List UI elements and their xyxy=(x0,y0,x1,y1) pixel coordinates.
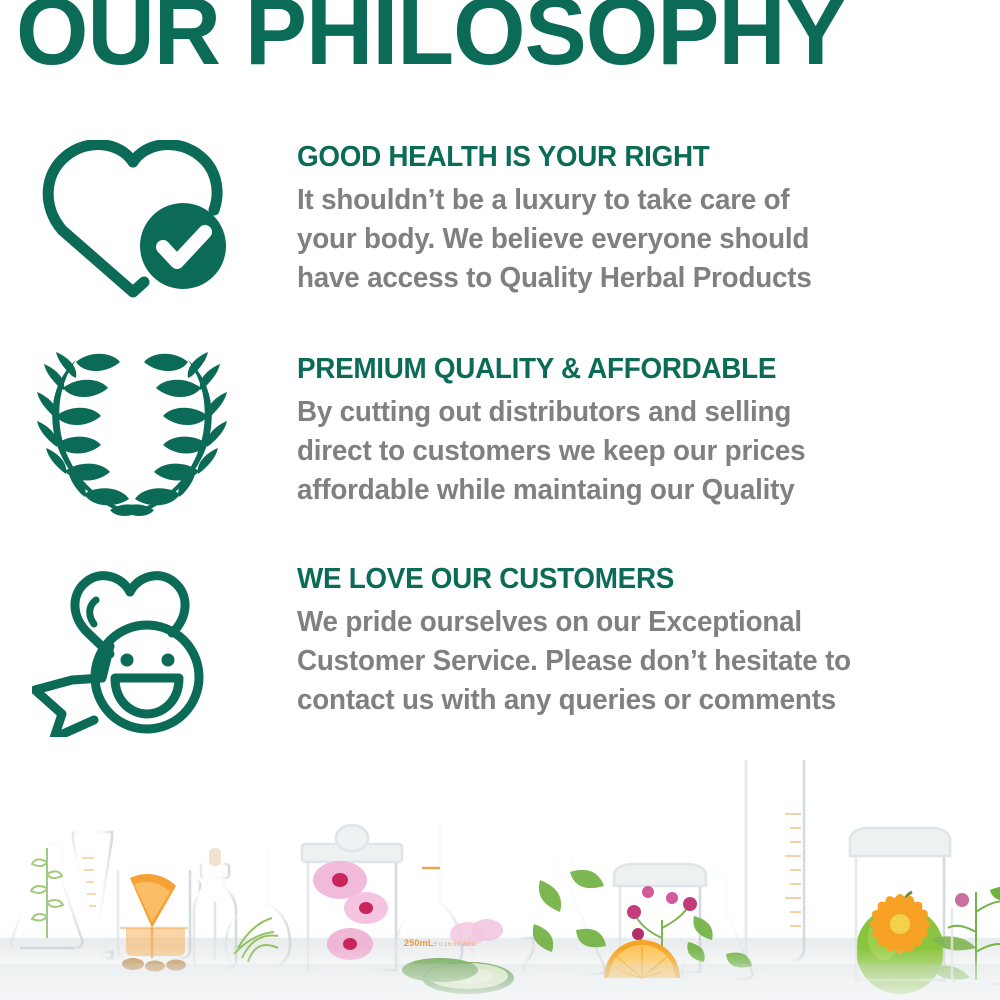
philosophy-text-block: PREMIUM QUALITY & AFFORDABLE By cutting … xyxy=(297,352,977,510)
body-line: direct to customers we keep our prices xyxy=(297,432,960,471)
section-body: It shouldn’t be a luxury to take care of… xyxy=(297,181,960,298)
section-body: We pride ourselves on our Exceptional Cu… xyxy=(297,603,960,720)
laurel-wreath-icon xyxy=(32,352,232,527)
philosophy-text-block: WE LOVE OUR CUSTOMERS We pride ourselves… xyxy=(297,562,977,720)
body-line: affordable while maintaing our Quality xyxy=(297,471,960,510)
section-heading: PREMIUM QUALITY & AFFORDABLE xyxy=(297,352,950,386)
body-line: It shouldn’t be a luxury to take care of xyxy=(297,181,960,220)
volumetric-flask-label: 250mL± 0.15 ml 20°C xyxy=(404,938,476,948)
body-line: We pride ourselves on our Exceptional xyxy=(297,603,960,642)
section-heading: GOOD HEALTH IS YOUR RIGHT xyxy=(297,140,950,174)
philosophy-page: OUR PHILOSOPHY GOOD HEALTH IS YOUR RIGHT… xyxy=(0,0,1000,1000)
lab-glassware-photo: 250mL± 0.15 ml 20°C xyxy=(0,752,1000,1000)
body-line: have access to Quality Herbal Products xyxy=(297,259,960,298)
section-heading: WE LOVE OUR CUSTOMERS xyxy=(297,562,950,596)
heart-check-icon xyxy=(32,140,232,315)
section-body: By cutting out distributors and selling … xyxy=(297,393,960,510)
page-title: OUR PHILOSOPHY xyxy=(16,0,955,80)
body-line: By cutting out distributors and selling xyxy=(297,393,960,432)
body-line: Customer Service. Please don’t hesitate … xyxy=(297,642,960,681)
heart-star-smiley-icon xyxy=(32,562,232,737)
philosophy-text-block: GOOD HEALTH IS YOUR RIGHT It shouldn’t b… xyxy=(297,140,977,298)
body-line: contact us with any queries or comments xyxy=(297,681,960,720)
body-line: your body. We believe everyone should xyxy=(297,220,960,259)
